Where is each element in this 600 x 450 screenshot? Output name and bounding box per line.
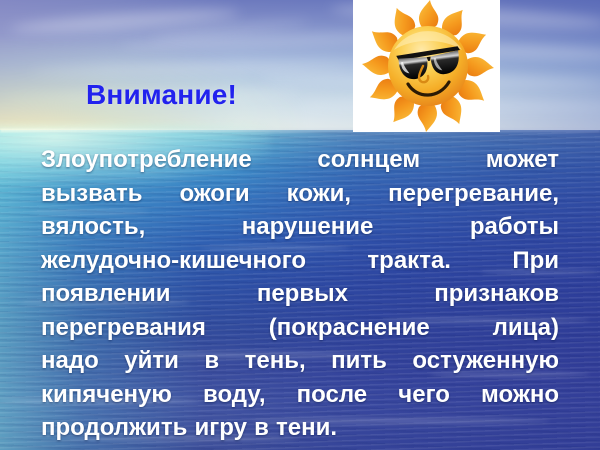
presentation-slide: Внимание! (0, 0, 600, 450)
body-line: Злоупотребление солнцем может (41, 143, 559, 177)
body-line: надо уйти в тень, пить остуженную (41, 344, 559, 378)
body-line: продолжить игру в тени. (41, 411, 559, 445)
body-line: перегревания (покраснение лица) (41, 311, 559, 345)
slide-title: Внимание! (86, 79, 237, 111)
sun-with-sunglasses-icon (353, 0, 500, 132)
slide-body-text: Злоупотребление солнцем может вызвать ож… (41, 143, 559, 445)
body-line: желудочно-кишечного тракта. При (41, 244, 559, 278)
body-line: вызвать ожоги кожи, перегревание, (41, 177, 559, 211)
body-line: кипяченую воду, после чего можно (41, 378, 559, 412)
body-line: вялость, нарушение работы (41, 210, 559, 244)
sun-image-frame (353, 0, 500, 132)
body-line: появлении первых признаков (41, 277, 559, 311)
horizon-line (0, 129, 600, 132)
